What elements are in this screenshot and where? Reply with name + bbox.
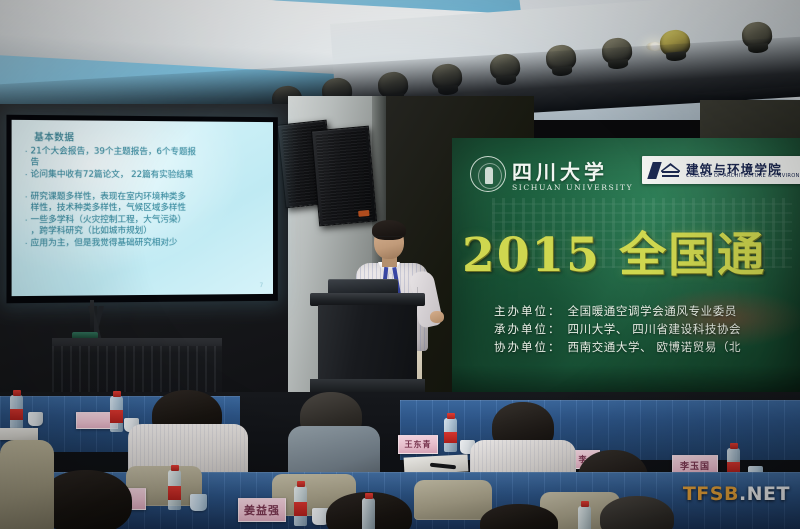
college-logo-plate: 建筑与环境学院 COLLEGE OF ARCHITECTURE & ENVIRO… (642, 156, 800, 184)
sichuan-university-logo: 四川大学 SICHUAN UNIVERSITY (470, 154, 650, 198)
organizer-row: 主办单位： 全国暖通空调学会通风专业委员 (494, 302, 741, 320)
placard-name: 王东青 (405, 439, 432, 450)
water-bottle-icon (10, 395, 23, 429)
conference-photo: 基本数据 · 21个大会报告，39个主题报告，6个专题报 告 · 论问集中收有7… (0, 0, 800, 529)
banner-organizer-list: 主办单位： 全国暖通空调学会通风专业委员 承办单位： 四川大学、 四川省建设科技… (494, 302, 741, 356)
organizer-value: 西南交通大学、 欧博诺贸易（北 (568, 338, 742, 356)
bottle-label (294, 502, 307, 516)
speaker-grill (315, 130, 372, 222)
university-name-cn: 四川大学 (512, 156, 608, 185)
line-array-speaker-icon (311, 126, 377, 227)
water-bottle-icon (578, 506, 591, 529)
slide-bullet: · 一些多学科（火灾控制工程，大气污染） ，跨学科研究（比如城市规划） (25, 215, 265, 238)
bullet-marker: · (25, 239, 28, 250)
bullet-marker: · (25, 146, 28, 157)
slide-bullet: · 论问集中收有72篇论文， 22篇有实验结果 (25, 170, 265, 182)
slide-bullet: · 21个大会报告，39个主题报告，6个专题报 告 (25, 146, 265, 170)
organizer-label: 主办单位： (494, 302, 562, 320)
event-backdrop-banner: 四川大学 SICHUAN UNIVERSITY 建筑与环境学院 COLLEGE … (452, 138, 800, 406)
bullet-marker: · (25, 170, 28, 181)
slide-page-number: 7 (260, 282, 264, 289)
lectern-body (318, 305, 417, 381)
water-bottle-icon (110, 396, 123, 432)
bottle-cap (447, 413, 455, 419)
bullet-marker: · (25, 191, 28, 202)
paper-cup-icon (28, 412, 43, 426)
water-bottle-icon (168, 470, 181, 510)
bottle-cap (365, 493, 373, 499)
slide-title: 基本数据 (34, 129, 74, 143)
bottle-cap (730, 443, 738, 449)
name-placard: 姜益强 (238, 498, 286, 522)
university-name-en: SICHUAN UNIVERSITY (512, 183, 633, 192)
bullet-marker: · (25, 215, 28, 226)
water-bottle-icon (444, 418, 457, 452)
organizer-row: 协办单位： 西南交通大学、 欧博诺贸易（北 (494, 338, 741, 356)
organizer-value: 四川大学、 四川省建设科技协会 (568, 320, 742, 338)
bullet-text: 应用为主，但是我觉得基础研究相对少 (31, 238, 178, 250)
site-watermark: TFSB.NET (683, 483, 790, 505)
bottle-cap (113, 391, 121, 397)
bullet-text: 一些多学科（火灾控制工程，大气污染） ，跨学科研究（比如城市规划） (31, 215, 186, 238)
presenter-hand (430, 311, 444, 323)
bottle-cap (297, 481, 305, 487)
emblem-lines (662, 171, 679, 179)
bottle-label (168, 486, 181, 500)
audience-member-body (0, 440, 54, 529)
bottle-label (10, 409, 23, 421)
bottle-cap (13, 390, 21, 396)
document-stack (0, 428, 38, 440)
water-bottle-icon (294, 486, 307, 526)
banner-event-title: 2015 全国通 (462, 216, 766, 285)
water-bottle-icon (362, 498, 375, 529)
placard-name: 李玉国 (680, 459, 710, 472)
watermark-primary: TFSB (683, 483, 739, 505)
college-name-en: COLLEGE OF ARCHITECTURE & ENVIRONMENT (686, 173, 800, 179)
paper-cup-icon (190, 494, 207, 511)
glasses-icon (375, 236, 403, 241)
slide-bullet: · 研究课题多样性，表现在室内环境种类多 样性，技术种类多样性，气候区域多样性 (25, 191, 265, 214)
watermark-secondary: .NET (739, 483, 790, 505)
bottle-label (110, 410, 123, 422)
projection-screen: 基本数据 · 21个大会报告，39个主题报告，6个专题报 告 · 论问集中收有7… (6, 115, 277, 304)
bullet-text: 研究课题多样性，表现在室内环境种类多 样性，技术种类多样性，气候区域多样性 (31, 191, 186, 214)
organizer-row: 承办单位： 四川大学、 四川省建设科技协会 (494, 320, 741, 338)
placard-name: 姜益强 (244, 502, 280, 518)
bullet-text: 21个大会报告，39个主题报告，6个专题报 告 (31, 146, 196, 169)
college-emblem-icon (648, 160, 682, 179)
organizer-value: 全国暖通空调学会通风专业委员 (568, 302, 737, 320)
bottle-label (444, 432, 457, 444)
emblem-bar (647, 162, 662, 179)
bottle-cap (171, 465, 179, 471)
organizer-label: 协办单位： (494, 338, 562, 356)
organizer-label: 承办单位： (494, 320, 562, 338)
bullet-text: 论问集中收有72篇论文， 22篇有实验结果 (31, 170, 194, 182)
name-placard: 王东青 (398, 435, 438, 454)
bottle-cap (581, 501, 589, 507)
presentation-slide: 基本数据 · 21个大会报告，39个主题报告，6个专题报 告 · 论问集中收有7… (12, 120, 273, 296)
slide-bullet-list: · 21个大会报告，39个主题报告，6个专题报 告 · 论问集中收有72篇论文，… (25, 146, 265, 251)
university-seal-icon (470, 156, 506, 192)
slide-bullet: · 应用为主，但是我觉得基础研究相对少 (25, 238, 265, 250)
chair (414, 480, 492, 520)
